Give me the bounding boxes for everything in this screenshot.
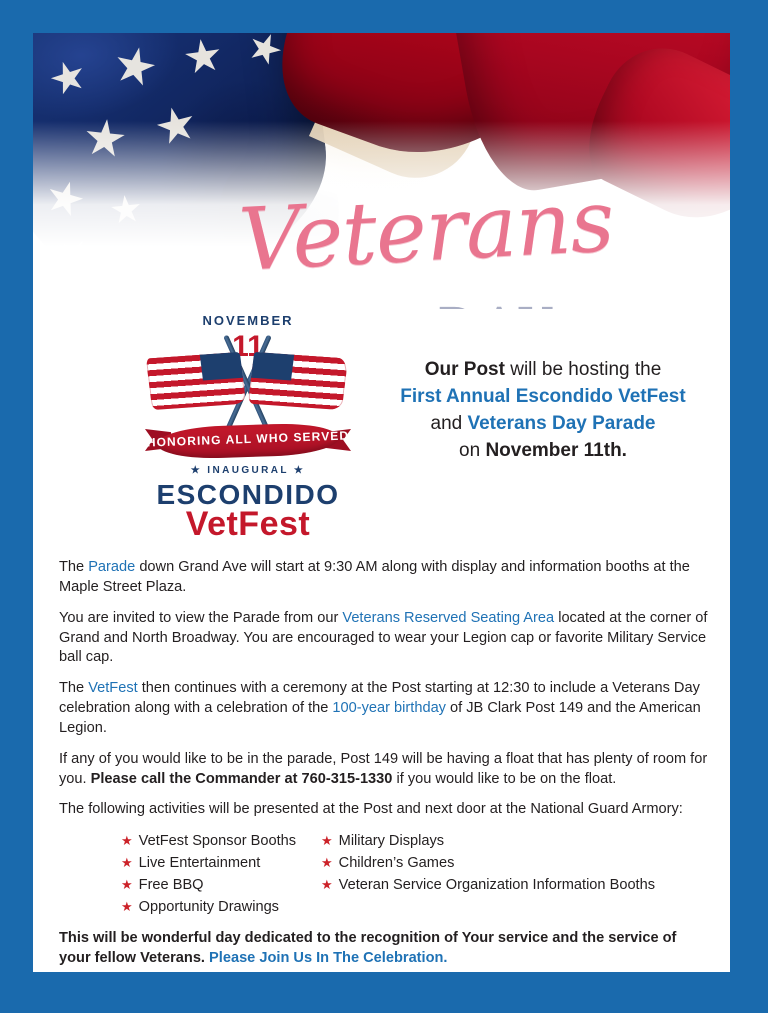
p1-a: The xyxy=(59,559,88,575)
activity-label: Veteran Service Organization Information… xyxy=(339,875,655,897)
logo-inaugural-label: ★ INAUGURAL ★ xyxy=(143,465,353,476)
star-bullet-icon: ★ xyxy=(321,853,333,873)
activity-label: Opportunity Drawings xyxy=(139,897,279,919)
activity-label: Free BBQ xyxy=(139,875,204,897)
p1-b: down Grand Ave will start at 9:30 AM alo… xyxy=(59,559,690,595)
star-bullet-icon: ★ xyxy=(121,897,133,917)
headline-line-2: First Annual Escondido VetFest xyxy=(363,384,723,411)
list-item: ★Military Displays xyxy=(321,831,655,853)
headline-vetfest-name: First Annual Escondido VetFest xyxy=(400,386,685,407)
hero-banner: Veterans DAY xyxy=(33,33,730,309)
activity-label: Children’s Games xyxy=(339,853,455,875)
headline-date: November 11th. xyxy=(485,440,627,461)
list-item: ★VetFest Sponsor Booths xyxy=(121,831,321,853)
paragraph-seating: You are invited to view the Parade from … xyxy=(59,609,709,669)
star-bullet-icon: ★ xyxy=(121,853,133,873)
list-item: ★Opportunity Drawings xyxy=(121,897,321,919)
p2-seating-link: Veterans Reserved Seating Area xyxy=(342,610,554,626)
flyer-page: Veterans DAY NOVEMBER 11 xyxy=(0,0,768,1013)
p3-birthday-link: 100-year birthday xyxy=(332,700,446,716)
logo-month-label: NOVEMBER xyxy=(143,313,353,328)
star-bullet-icon: ★ xyxy=(321,831,333,851)
closing-call-to-action: Please Join Us In The Celebration. xyxy=(209,950,447,966)
star-bullet-icon: ★ xyxy=(321,875,333,895)
closing-statement: This will be wonderful day dedicated to … xyxy=(59,929,709,969)
activities-column-2: ★Military Displays ★Children’s Games ★Ve… xyxy=(321,831,655,919)
list-item: ★Veteran Service Organization Informatio… xyxy=(321,875,655,897)
p4-b: if you would like to be on the float. xyxy=(392,771,616,787)
headline-block: Our Post will be hosting the First Annua… xyxy=(363,357,723,465)
paragraph-activities-intro: The following activities will be present… xyxy=(59,800,709,820)
activities-column-1: ★VetFest Sponsor Booths ★Live Entertainm… xyxy=(121,831,321,919)
headline-line-4-pre: on xyxy=(459,440,485,461)
activity-label: Military Displays xyxy=(339,831,444,853)
p3-a: The xyxy=(59,680,88,696)
p1-parade-link: Parade xyxy=(88,559,135,575)
escondido-vetfest-logo: NOVEMBER 11 HONORING ALL WHO xyxy=(143,313,353,537)
paragraph-float: If any of you would like to be in the pa… xyxy=(59,750,709,790)
headline-line-4: on November 11th. xyxy=(363,438,723,465)
hero-subtitle: DAY xyxy=(437,297,556,309)
paragraph-vetfest: The VetFest then continues with a ceremo… xyxy=(59,679,709,739)
activity-label: VetFest Sponsor Booths xyxy=(139,831,296,853)
list-item: ★Live Entertainment xyxy=(121,853,321,875)
star-bullet-icon: ★ xyxy=(121,875,133,895)
headline-parade-name: Veterans Day Parade xyxy=(467,413,655,434)
list-item: ★Children’s Games xyxy=(321,853,655,875)
list-item: ★Free BBQ xyxy=(121,875,321,897)
p3-vetfest-link: VetFest xyxy=(88,680,137,696)
activity-label: Live Entertainment xyxy=(139,853,261,875)
headline-line-1: Our Post will be hosting the xyxy=(363,357,723,384)
headline-our-post: Our Post xyxy=(425,359,505,380)
flyer-white-card: Veterans DAY NOVEMBER 11 xyxy=(33,33,730,972)
star-bullet-icon: ★ xyxy=(121,831,133,851)
headline-line-1-rest: will be hosting the xyxy=(505,359,661,380)
logo-headline-row: NOVEMBER 11 HONORING ALL WHO xyxy=(33,309,730,565)
hero-script-title: Veterans xyxy=(237,171,616,290)
p2-a: You are invited to view the Parade from … xyxy=(59,610,342,626)
us-flag-icon xyxy=(146,352,246,410)
body-copy: The Parade down Grand Ave will start at … xyxy=(59,558,709,972)
headline-line-3-pre: and xyxy=(431,413,468,434)
us-flag-icon xyxy=(248,352,348,410)
honoring-ribbon: HONORING ALL WHO SERVED xyxy=(145,421,351,463)
activities-list: ★VetFest Sponsor Booths ★Live Entertainm… xyxy=(59,831,709,919)
logo-event-label: VetFest xyxy=(143,505,353,544)
p4-commander-phone: Please call the Commander at 760-315-133… xyxy=(91,771,393,787)
flag-canton xyxy=(200,352,243,381)
paragraph-parade: The Parade down Grand Ave will start at … xyxy=(59,558,709,598)
flag-canton xyxy=(251,352,294,381)
headline-line-3: and Veterans Day Parade xyxy=(363,411,723,438)
